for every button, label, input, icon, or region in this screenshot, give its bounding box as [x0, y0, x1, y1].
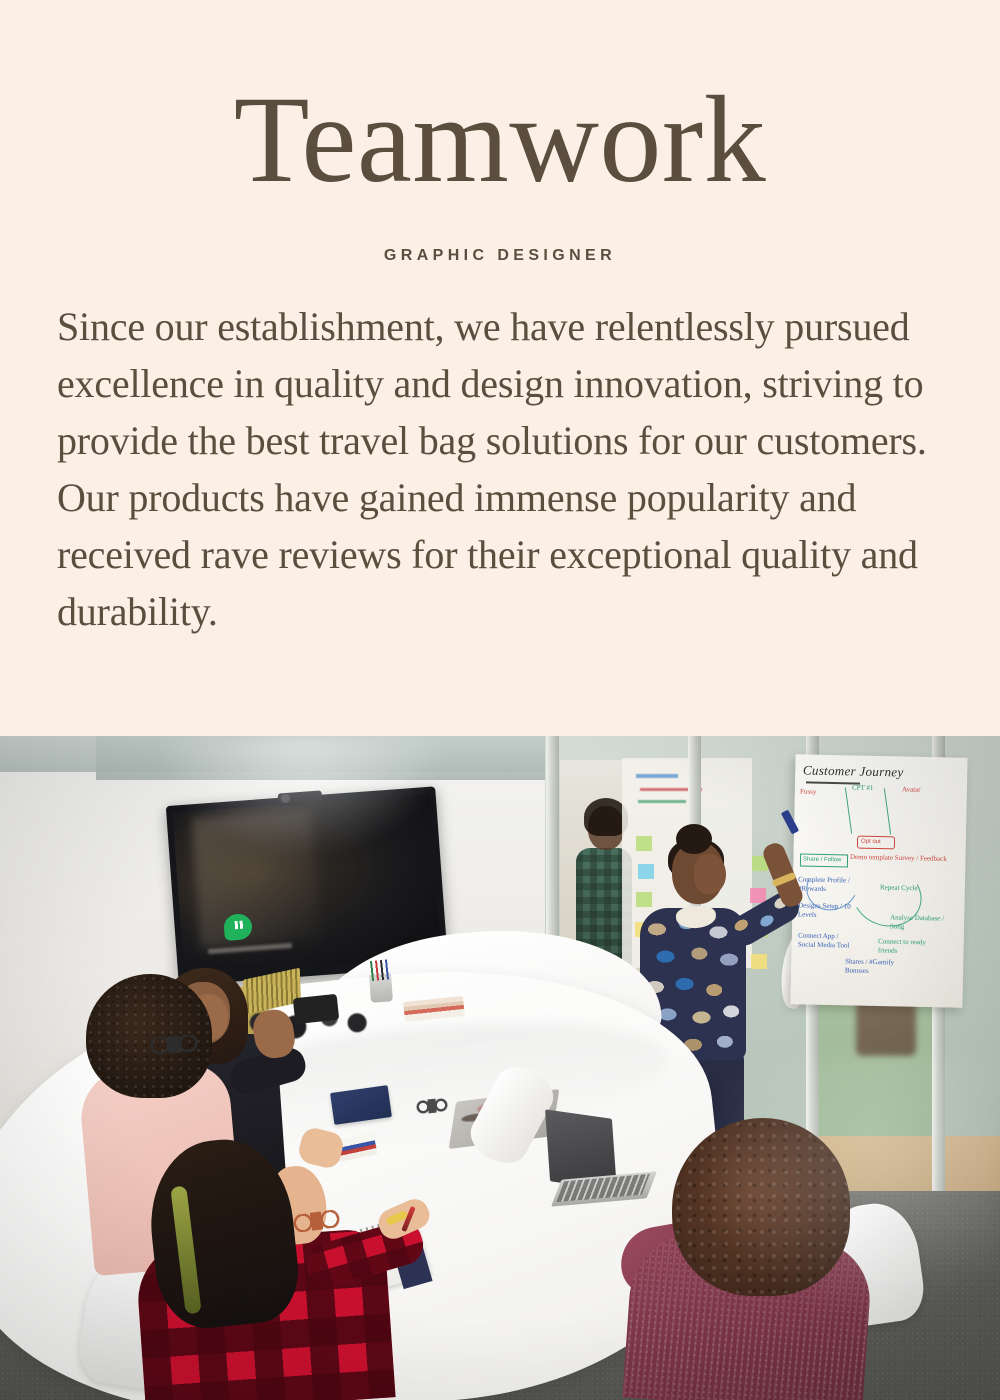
- poster-subtitle: GRAPHIC DESIGNER: [0, 247, 1000, 265]
- page-title: Teamwork: [0, 78, 1000, 202]
- photo-section: Customer Journey Fussy CPT #1 Avatar Sha…: [0, 736, 1000, 1400]
- photo-vignette: [0, 736, 1000, 1400]
- poster-canvas: Teamwork GRAPHIC DESIGNER Since our esta…: [0, 0, 1000, 1400]
- text-section: Teamwork GRAPHIC DESIGNER Since our esta…: [0, 0, 1000, 736]
- poster-body-text: Since our establishment, we have relentl…: [57, 298, 947, 640]
